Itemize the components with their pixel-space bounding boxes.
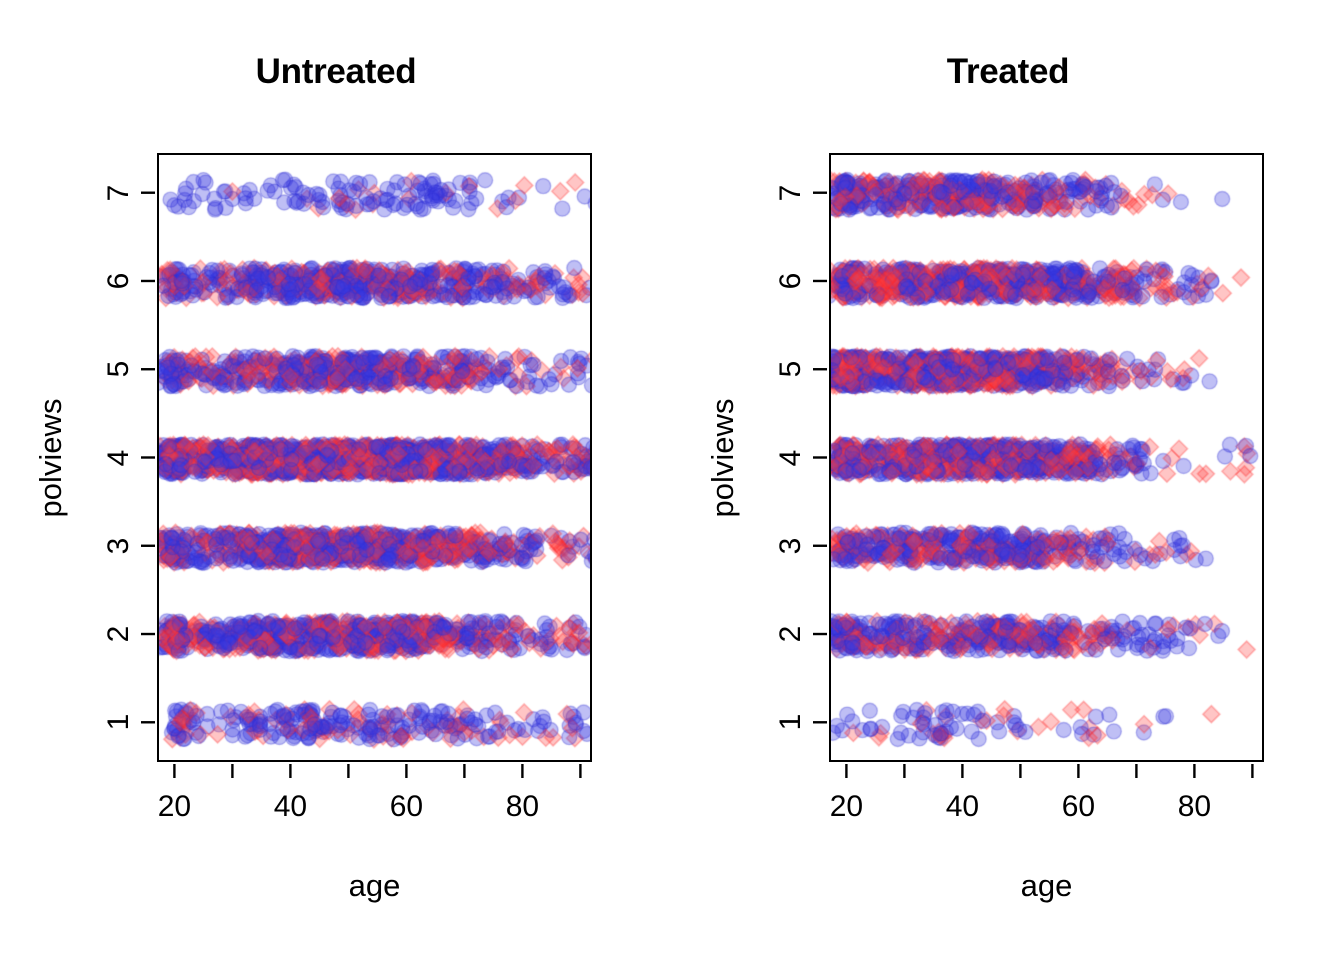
panel-treated: Treated 204060801234567agepolviews bbox=[672, 0, 1344, 960]
panel-title-treated: Treated bbox=[672, 52, 1344, 92]
y-tick-label: 2 bbox=[774, 626, 808, 643]
y-tick-label: 7 bbox=[774, 184, 808, 201]
y-tick-label: 3 bbox=[774, 537, 808, 554]
x-tick-label: 20 bbox=[830, 790, 863, 824]
panel-untreated: Untreated 204060801234567agepolviews bbox=[0, 0, 672, 960]
y-tick-label: 5 bbox=[774, 361, 808, 378]
scatter-points-untreated bbox=[159, 155, 592, 762]
y-tick-label: 5 bbox=[102, 361, 136, 378]
y-tick-label: 4 bbox=[774, 449, 808, 466]
y-tick-label: 3 bbox=[102, 537, 136, 554]
x-tick-label: 20 bbox=[158, 790, 191, 824]
y-tick-label: 6 bbox=[102, 273, 136, 290]
x-axis-title-treated: age bbox=[1021, 868, 1073, 904]
y-axis-title-treated: polviews bbox=[705, 398, 741, 517]
x-tick-label: 60 bbox=[390, 790, 423, 824]
y-tick-label: 4 bbox=[102, 449, 136, 466]
y-tick-label: 2 bbox=[102, 626, 136, 643]
figure-root: Untreated 204060801234567agepolviews Tre… bbox=[0, 0, 1344, 960]
y-axis-title-untreated: polviews bbox=[33, 398, 69, 517]
y-tick-label: 6 bbox=[774, 273, 808, 290]
panel-title-untreated: Untreated bbox=[0, 52, 672, 92]
y-tick-label: 1 bbox=[774, 714, 808, 731]
y-tick-label: 7 bbox=[102, 184, 136, 201]
x-tick-label: 60 bbox=[1062, 790, 1095, 824]
x-tick-label: 40 bbox=[946, 790, 979, 824]
plot-area-untreated bbox=[157, 153, 592, 762]
x-tick-label: 80 bbox=[1178, 790, 1211, 824]
x-axis-title-untreated: age bbox=[349, 868, 401, 904]
y-tick-label: 1 bbox=[102, 714, 136, 731]
plot-area-treated bbox=[829, 153, 1264, 762]
scatter-points-treated bbox=[831, 155, 1264, 762]
x-tick-label: 80 bbox=[506, 790, 539, 824]
x-tick-label: 40 bbox=[274, 790, 307, 824]
